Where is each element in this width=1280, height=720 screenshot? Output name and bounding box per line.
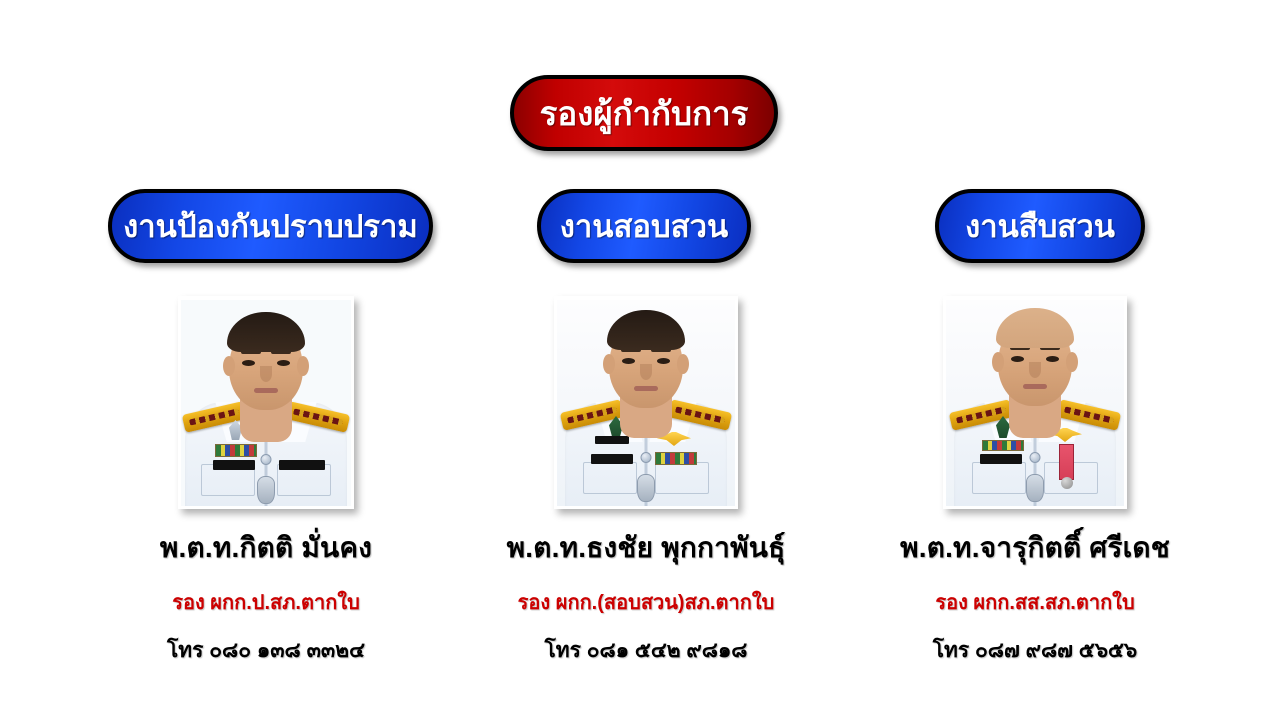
- name-tag: [591, 454, 633, 464]
- root-node-deputy-superintendent[interactable]: รองผู้กำกับการ: [510, 75, 778, 151]
- branch-node-investigation[interactable]: งานสอบสวน: [537, 189, 751, 263]
- rank-tag: [279, 460, 325, 470]
- person-caption: พ.ต.ท.กิตติ มั่นคง รอง ผกก.ป.สภ.ตากใบ โท…: [86, 509, 446, 667]
- uniform-emblem: [257, 476, 275, 504]
- medal-ribbon: [1059, 444, 1074, 480]
- person-card-2: พ.ต.ท.ธงชัย พุกกาพันธุ์ รอง ผกก.(สอบสวน)…: [466, 296, 826, 667]
- person-photo-frame: [178, 296, 354, 509]
- ribbon-bar: [215, 444, 257, 457]
- person-caption: พ.ต.ท.จารุกิตติ์ ศรีเดช รอง ผกก.สส.สภ.ตา…: [855, 509, 1215, 667]
- uniform-pocket-left: [972, 462, 1026, 494]
- ribbon-bar: [982, 440, 1024, 451]
- person-name: พ.ต.ท.จารุกิตติ์ ศรีเดช: [855, 526, 1215, 570]
- person-phone: โทร ๐๘๐ ๑๓๘ ๓๓๒๔: [86, 634, 446, 667]
- uniform-pocket-left: [583, 462, 637, 494]
- person-name: พ.ต.ท.กิตติ มั่นคง: [86, 526, 446, 570]
- person-portrait-photo: [557, 300, 735, 506]
- name-tag: [980, 454, 1022, 464]
- uniform-button: [261, 454, 272, 465]
- person-card-3: พ.ต.ท.จารุกิตติ์ ศรีเดช รอง ผกก.สส.สภ.ตา…: [855, 296, 1215, 667]
- uniform-pocket-right: [655, 462, 709, 494]
- uniform-button: [641, 452, 652, 463]
- person-role: รอง ผกก.ป.สภ.ตากใบ: [86, 586, 446, 618]
- branch-node-prevention-suppression[interactable]: งานป้องกันปราบปราม: [108, 189, 433, 263]
- person-portrait-photo: [946, 300, 1124, 506]
- uniform-emblem: [1026, 474, 1044, 502]
- person-photo-frame: [554, 296, 738, 509]
- person-portrait-photo: [181, 300, 351, 506]
- ribbon-bar: [655, 452, 697, 465]
- person-caption: พ.ต.ท.ธงชัย พุกกาพันธุ์ รอง ผกก.(สอบสวน)…: [466, 509, 826, 667]
- branch-node-inquiry[interactable]: งานสืบสวน: [935, 189, 1145, 263]
- person-name: พ.ต.ท.ธงชัย พุกกาพันธุ์: [466, 526, 826, 570]
- person-card-1: พ.ต.ท.กิตติ มั่นคง รอง ผกก.ป.สภ.ตากใบ โท…: [86, 296, 446, 667]
- person-role: รอง ผกก.(สอบสวน)สภ.ตากใบ: [466, 586, 826, 618]
- person-phone: โทร ๐๘๑ ๕๔๒ ๙๘๑๘: [466, 634, 826, 667]
- org-chart-canvas: รองผู้กำกับการ งานป้องกันปราบปราม งานสอบ…: [0, 0, 1280, 720]
- name-tag: [213, 460, 255, 470]
- rank-tag: [595, 436, 629, 444]
- uniform-emblem: [637, 474, 655, 502]
- person-phone: โทร ๐๘๗ ๙๘๗ ๕๖๕๖: [855, 634, 1215, 667]
- person-role: รอง ผกก.สส.สภ.ตากใบ: [855, 586, 1215, 618]
- person-photo-frame: [943, 296, 1127, 509]
- uniform-button: [1030, 452, 1041, 463]
